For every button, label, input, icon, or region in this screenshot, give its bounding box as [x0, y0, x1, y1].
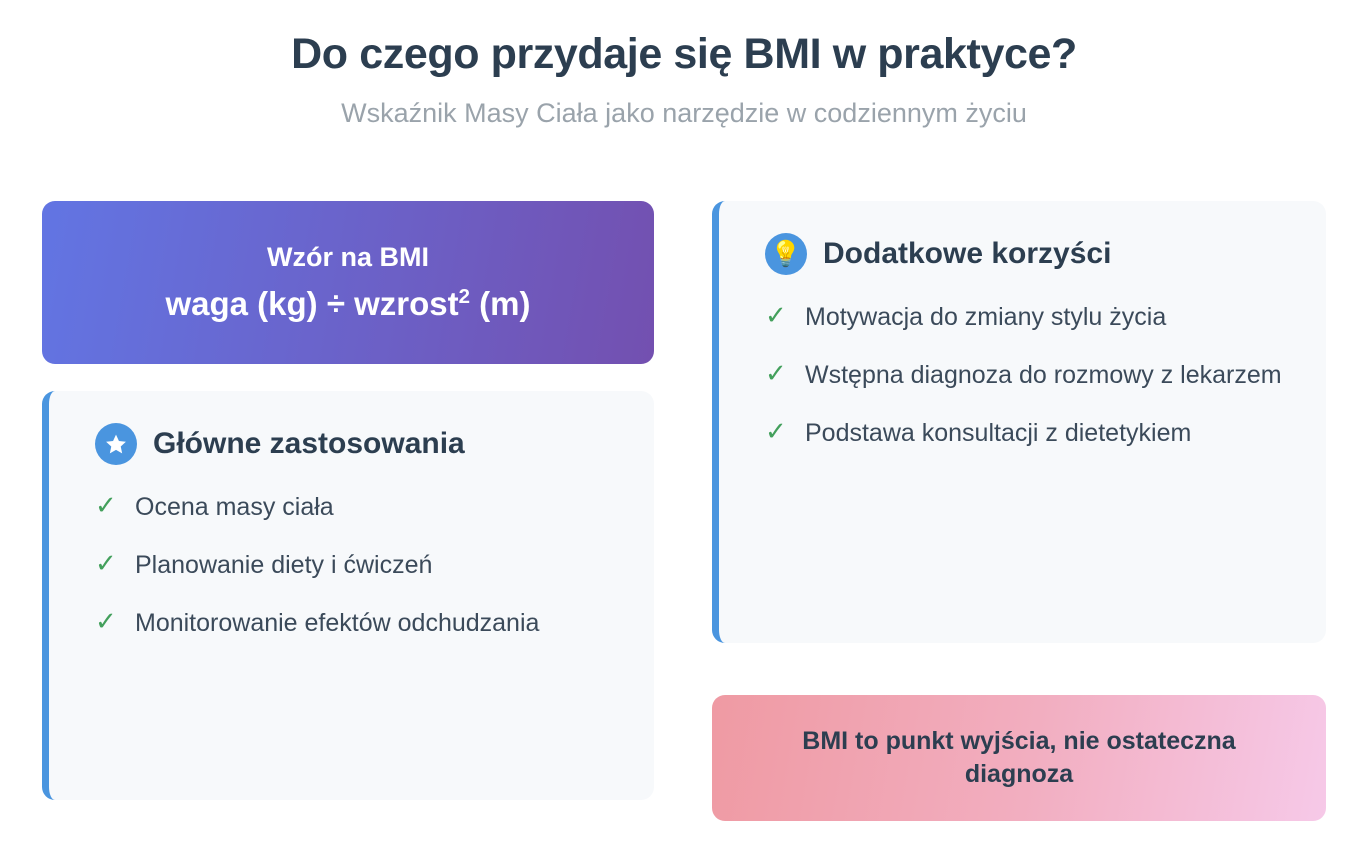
formula-exponent: 2 [459, 285, 470, 308]
lightbulb-icon: 💡 [765, 233, 807, 275]
formula-expression-prefix: waga (kg) ÷ wzrost [165, 285, 458, 322]
list-item: ✓ Planowanie diety i ćwiczeń [95, 549, 620, 583]
infographic-page: Do czego przydaje się BMI w praktyce? Ws… [0, 0, 1368, 864]
list-item-label: Ocena masy ciała [135, 491, 334, 525]
check-icon: ✓ [95, 607, 117, 636]
page-title: Do czego przydaje się BMI w praktyce? [0, 30, 1368, 79]
list-item: ✓ Podstawa konsultacji z dietetykiem [765, 417, 1292, 451]
list-item: ✓ Wstępna diagnoza do rozmowy z lekarzem [765, 359, 1292, 393]
list-item: ✓ Monitorowanie efektów odchudzania [95, 607, 620, 641]
list-item: ✓ Ocena masy ciała [95, 491, 620, 525]
extra-benefits-card-header: 💡 Dodatkowe korzyści [765, 233, 1292, 275]
formula-expression-suffix: (m) [470, 285, 531, 322]
check-icon: ✓ [95, 491, 117, 520]
check-icon: ✓ [95, 549, 117, 578]
header: Do czego przydaje się BMI w praktyce? Ws… [0, 30, 1368, 130]
list-item-label: Wstępna diagnoza do rozmowy z lekarzem [805, 359, 1282, 393]
right-column: 💡 Dodatkowe korzyści ✓ Motywacja do zmia… [712, 201, 1326, 643]
star-icon [95, 423, 137, 465]
list-item-label: Monitorowanie efektów odchudzania [135, 607, 539, 641]
lightbulb-glyph: 💡 [770, 242, 801, 267]
page-subtitle: Wskaźnik Masy Ciała jako narzędzie w cod… [0, 97, 1368, 129]
bmi-formula-card: Wzór na BMI waga (kg) ÷ wzrost2 (m) [42, 201, 654, 364]
bmi-disclaimer-callout: BMI to punkt wyjścia, nie ostateczna dia… [712, 695, 1326, 821]
list-item-label: Motywacja do zmiany stylu życia [805, 301, 1166, 335]
extra-benefits-card: 💡 Dodatkowe korzyści ✓ Motywacja do zmia… [712, 201, 1326, 643]
bmi-disclaimer-text: BMI to punkt wyjścia, nie ostateczna dia… [752, 725, 1286, 791]
list-item: ✓ Motywacja do zmiany stylu życia [765, 301, 1292, 335]
check-icon: ✓ [765, 301, 787, 330]
list-item-label: Podstawa konsultacji z dietetykiem [805, 417, 1191, 451]
main-uses-card: Główne zastosowania ✓ Ocena masy ciała ✓… [42, 391, 654, 800]
left-column: Wzór na BMI waga (kg) ÷ wzrost2 (m) Głów… [42, 201, 654, 800]
formula-expression: waga (kg) ÷ wzrost2 (m) [165, 286, 530, 322]
main-uses-card-header: Główne zastosowania [95, 423, 620, 465]
check-icon: ✓ [765, 359, 787, 388]
check-icon: ✓ [765, 417, 787, 446]
main-uses-list: ✓ Ocena masy ciała ✓ Planowanie diety i … [95, 491, 620, 640]
extra-benefits-list: ✓ Motywacja do zmiany stylu życia ✓ Wstę… [765, 301, 1292, 450]
extra-benefits-card-title: Dodatkowe korzyści [823, 237, 1111, 272]
formula-label: Wzór na BMI [267, 243, 429, 273]
main-uses-card-title: Główne zastosowania [153, 427, 465, 462]
list-item-label: Planowanie diety i ćwiczeń [135, 549, 432, 583]
